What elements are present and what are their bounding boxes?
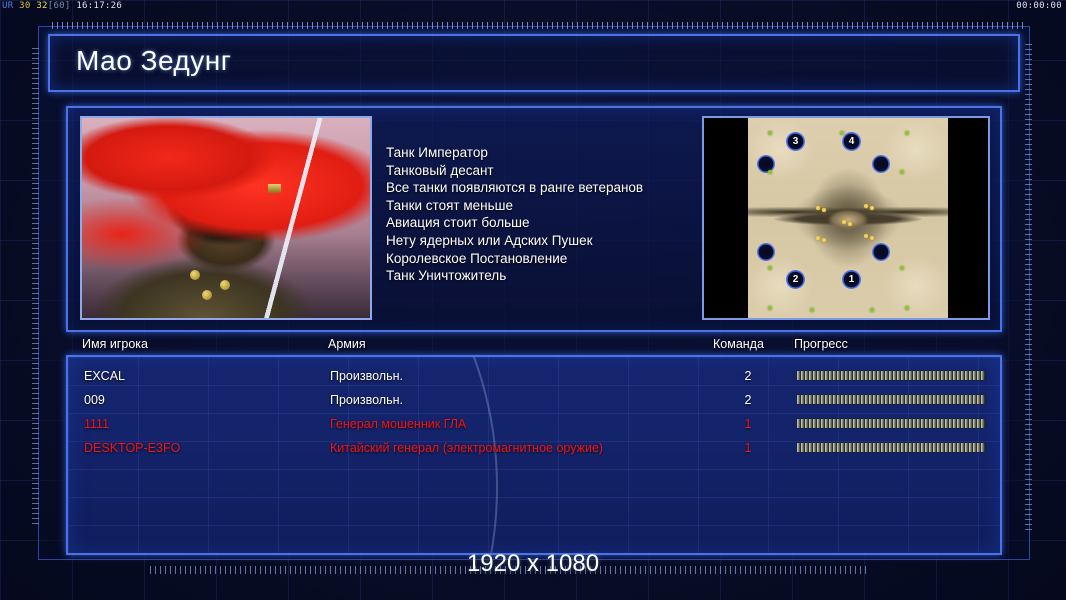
header-player-name: Имя игрока	[82, 337, 148, 351]
player-progress-bar	[796, 418, 986, 429]
cap-badge-icon	[268, 184, 281, 193]
general-bonus-list: Танк ИмператорТанковый десантВсе танки п…	[386, 144, 643, 285]
player-army: Произвольн.	[330, 388, 403, 412]
general-portrait-frame	[80, 116, 372, 320]
map-oil-derrick-icon	[768, 306, 772, 310]
ruler-top	[52, 22, 1024, 29]
map-supply-dock-icon	[848, 222, 852, 226]
general-bonus-line: Авиация стоит больше	[386, 214, 643, 232]
map-spawn-point-3: 3	[786, 132, 805, 151]
map-oil-derrick-icon	[768, 266, 772, 270]
map-spawn-point	[872, 243, 890, 261]
player-army: Генерал мошенник ГЛА	[330, 412, 466, 436]
map-supply-dock-icon	[822, 208, 826, 212]
player-progress-fill	[797, 395, 985, 404]
fps-value-b: 32	[36, 1, 47, 11]
fps-counter: UR 30 32[60] 16:17:26	[2, 0, 122, 13]
player-progress-fill	[797, 443, 985, 452]
player-progress-fill	[797, 419, 985, 428]
map-spawn-point	[872, 155, 890, 173]
fps-value-a: 30	[19, 1, 30, 11]
player-progress-bar	[796, 370, 986, 381]
title-panel: Мао Зедунг	[48, 34, 1020, 92]
general-bonus-line: Все танки появляются в ранге ветеранов	[386, 179, 643, 197]
player-name: DESKTOP-E3FO	[84, 436, 180, 460]
general-bonus-line: Танк Уничтожитель	[386, 267, 643, 285]
map-oil-derrick-icon	[810, 308, 814, 312]
player-list-panel: EXCALПроизвольн.2009Произвольн.21111Гене…	[66, 355, 1002, 555]
map-spawn-point	[757, 155, 775, 173]
player-table-headers: Имя игрока Армия Команда Прогресс	[66, 337, 1002, 355]
top-status-bar: UR 30 32[60] 16:17:26 00:00:00	[0, 0, 1066, 13]
map-oil-derrick-icon	[900, 266, 904, 270]
map-supply-dock-icon	[870, 236, 874, 240]
general-info-panel: Танк ИмператорТанковый десантВсе танки п…	[66, 106, 1002, 332]
page-title: Мао Зедунг	[76, 45, 231, 77]
player-army: Произвольн.	[330, 364, 403, 388]
ruler-left	[32, 48, 39, 528]
player-team: 2	[741, 388, 755, 412]
general-bonus-line: Танк Император	[386, 144, 643, 162]
system-time: 16:17:26	[76, 1, 122, 11]
fps-label: UR	[2, 1, 13, 11]
medal-icon	[202, 290, 212, 300]
map-spawn-point-2: 2	[786, 270, 805, 289]
general-bonus-line: Танковый десант	[386, 162, 643, 180]
player-progress-bar	[796, 394, 986, 405]
player-progress-fill	[797, 371, 985, 380]
medal-icon	[190, 270, 200, 280]
elapsed-clock: 00:00:00	[1016, 0, 1062, 13]
map-oil-derrick-icon	[870, 308, 874, 312]
player-progress-bar	[796, 442, 986, 453]
map-preview-frame: 3421	[702, 116, 990, 320]
map-supply-dock-icon	[816, 206, 820, 210]
map-spawn-point-1: 1	[842, 270, 861, 289]
map-supply-dock-icon	[822, 238, 826, 242]
game-loading-screen: UR 30 32[60] 16:17:26 00:00:00 Мао Зедун…	[0, 0, 1066, 600]
map-preview-image: 3421	[748, 118, 948, 318]
player-name: 009	[84, 388, 105, 412]
map-spawn-point	[757, 243, 775, 261]
table-row[interactable]: 1111Генерал мошенник ГЛА1	[68, 412, 1002, 436]
map-oil-derrick-icon	[768, 170, 772, 174]
header-army: Армия	[328, 337, 366, 351]
map-supply-dock-icon	[864, 234, 868, 238]
general-portrait-image	[82, 118, 370, 318]
ruler-right	[1025, 44, 1032, 534]
map-supply-dock-icon	[816, 236, 820, 240]
player-army: Китайский генерал (электромагнитное оруж…	[330, 436, 603, 460]
map-oil-derrick-icon	[905, 131, 909, 135]
map-supply-dock-icon	[870, 206, 874, 210]
table-row[interactable]: DESKTOP-E3FOКитайский генерал (электрома…	[68, 436, 1002, 460]
general-bonus-line: Танки стоят меньше	[386, 197, 643, 215]
general-bonus-line: Нету ядерных или Адских Пушек	[386, 232, 643, 250]
header-progress: Прогресс	[794, 337, 848, 351]
map-oil-derrick-icon	[840, 131, 844, 135]
map-spawn-point-4: 4	[842, 132, 861, 151]
fps-cap: [60]	[48, 1, 71, 11]
map-supply-dock-icon	[864, 204, 868, 208]
player-name: 1111	[84, 412, 109, 436]
map-oil-derrick-icon	[905, 306, 909, 310]
map-supply-dock-icon	[842, 220, 846, 224]
player-team: 1	[741, 412, 755, 436]
medal-icon	[220, 280, 230, 290]
resolution-label: 1920 x 1080	[0, 550, 1066, 578]
header-team: Команда	[713, 337, 764, 351]
player-name: EXCAL	[84, 364, 125, 388]
player-team: 1	[741, 436, 755, 460]
player-team: 2	[741, 364, 755, 388]
table-row[interactable]: EXCALПроизвольн.2	[68, 364, 1002, 388]
general-bonus-line: Королевское Постановление	[386, 250, 643, 268]
map-oil-derrick-icon	[768, 131, 772, 135]
table-row[interactable]: 009Произвольн.2	[68, 388, 1002, 412]
map-oil-derrick-icon	[900, 170, 904, 174]
